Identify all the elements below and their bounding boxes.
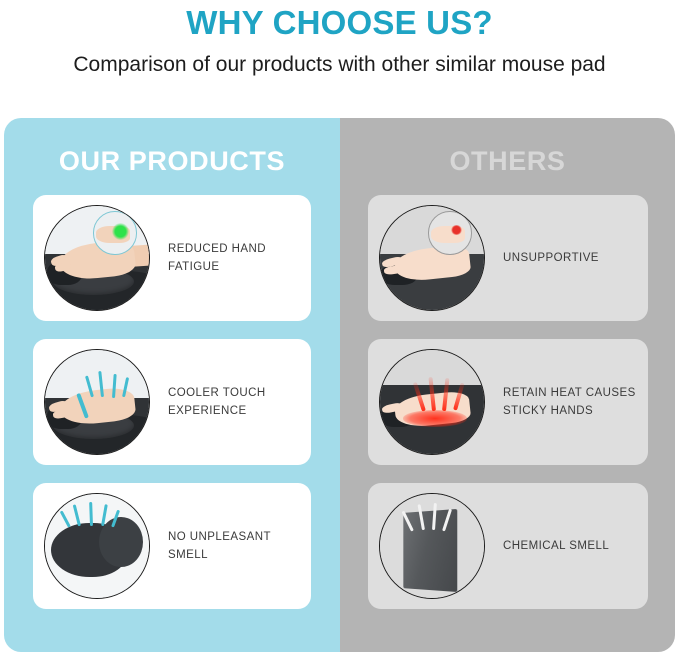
card-label-line: NO UNPLEASANT SMELL	[168, 528, 305, 564]
magnifier-inset-icon	[428, 211, 472, 255]
card-label-unsupportive: UNSUPPORTIVE	[485, 249, 605, 267]
hand-on-wrist-rest-photo-icon	[44, 205, 150, 311]
mouse-pad-top-view-photo-icon	[44, 493, 150, 599]
card-label-line: UNSUPPORTIVE	[503, 249, 599, 267]
card-cooler-touch-experience[interactable]: COOLER TOUCH EXPERIENCE	[33, 339, 311, 465]
comparison-panel: OUR PRODUCTS	[4, 118, 675, 652]
hand-flat-on-pad-photo-icon	[379, 205, 485, 311]
others-card-list: UNSUPPORTIVE RETAIN HE	[340, 177, 675, 609]
standing-pad-fumes-photo-icon	[379, 493, 485, 599]
page-title: WHY CHOOSE US?	[0, 0, 679, 42]
card-label-no-unpleasant-smell: NO UNPLEASANT SMELL	[150, 528, 311, 564]
card-label-cooler-touch-experience: COOLER TOUCH EXPERIENCE	[150, 384, 272, 420]
magnifier-inset-icon	[93, 211, 137, 255]
card-unsupportive[interactable]: UNSUPPORTIVE	[368, 195, 648, 321]
column-our-products: OUR PRODUCTS	[4, 118, 340, 652]
header: WHY CHOOSE US? Comparison of our product…	[0, 0, 679, 78]
our-products-card-list: REDUCED HAND FATIGUE	[4, 177, 340, 609]
hand-with-cool-airflow-photo-icon	[44, 349, 150, 455]
column-heading-our-products: OUR PRODUCTS	[4, 118, 340, 177]
card-label-line: COOLER TOUCH	[168, 384, 266, 402]
card-label-reduced-hand-fatigue: REDUCED HAND FATIGUE	[150, 240, 311, 276]
column-heading-others: OTHERS	[340, 118, 675, 177]
card-no-unpleasant-smell[interactable]: NO UNPLEASANT SMELL	[33, 483, 311, 609]
card-label-chemical-smell: CHEMICAL SMELL	[485, 537, 615, 555]
hand-with-heat-glow-photo-icon	[379, 349, 485, 455]
page-subtitle: Comparison of our products with other si…	[0, 42, 679, 78]
card-label-line: CHEMICAL SMELL	[503, 537, 609, 555]
card-label-line: EXPERIENCE	[168, 402, 266, 420]
card-retain-heat-sticky-hands[interactable]: RETAIN HEAT CAUSES STICKY HANDS	[368, 339, 648, 465]
card-label-line: RETAIN HEAT CAUSES	[503, 384, 636, 402]
column-others: OTHERS UNSUPPORTIVE	[340, 118, 675, 652]
card-reduced-hand-fatigue[interactable]: REDUCED HAND FATIGUE	[33, 195, 311, 321]
card-chemical-smell[interactable]: CHEMICAL SMELL	[368, 483, 648, 609]
card-label-retain-heat-sticky-hands: RETAIN HEAT CAUSES STICKY HANDS	[485, 384, 642, 420]
card-label-line: STICKY HANDS	[503, 402, 636, 420]
card-label-line: REDUCED HAND FATIGUE	[168, 240, 305, 276]
